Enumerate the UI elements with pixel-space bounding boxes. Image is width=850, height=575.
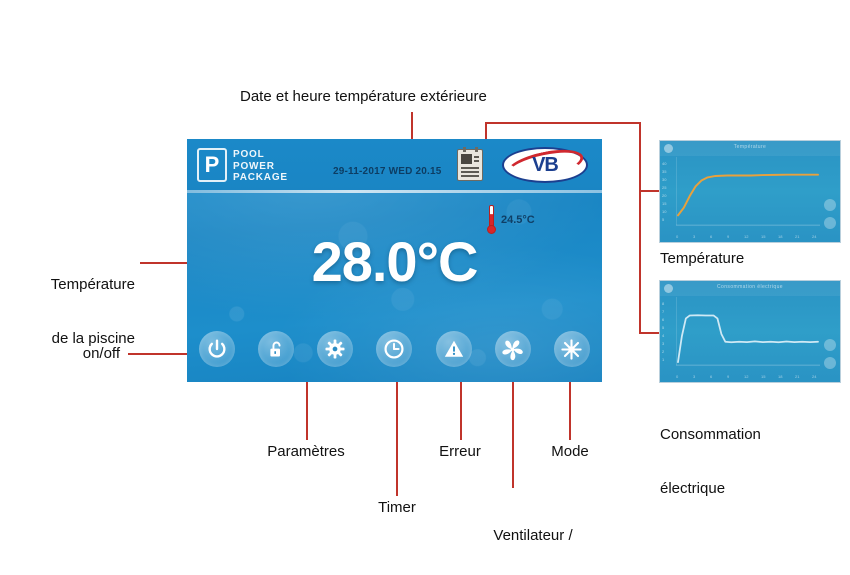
temp-chart-xtick-0: 0 — [676, 234, 678, 239]
temp-chart-plot — [676, 157, 820, 228]
leader-line-temp-chart — [639, 190, 659, 192]
power-chart-xtick-0: 0 — [676, 374, 678, 379]
schedule-icon-tab-right — [475, 147, 478, 152]
temp-chart-ytick-6: 10 — [662, 209, 666, 214]
temp-chart-btn-1[interactable] — [824, 199, 836, 211]
callout-onoff: on/off — [10, 345, 120, 363]
leader-line-sched-horiz — [485, 122, 641, 124]
callout-timer: Timer — [352, 499, 442, 517]
power-chart-ytick-4: 4 — [662, 333, 664, 338]
vb-logo: VB — [502, 147, 588, 183]
temp-chart-xtick-4: 12 — [744, 234, 748, 239]
brand-mark-letter: P — [197, 148, 227, 182]
temp-chart-ytick-5: 15 — [662, 201, 666, 206]
temp-chart-ytick-7: 5 — [662, 217, 664, 222]
leader-line-power-chart — [639, 332, 659, 334]
temp-chart-ytick-0: 40 — [662, 161, 666, 166]
power-icon[interactable] — [199, 331, 235, 367]
power-chart-ytick-5: 3 — [662, 341, 664, 346]
screen-header: P POOL POWER PACKAGE 29-11-2017 WED 20.1… — [187, 139, 602, 193]
leader-line-charts-vert — [639, 122, 641, 334]
temp-chart-xtick-8: 24 — [812, 234, 816, 239]
power-chart-menu-icon[interactable] — [664, 284, 673, 293]
schedule-icon-line-3 — [461, 167, 479, 169]
power-chart-xtick-8: 24 — [812, 374, 816, 379]
schedule-icon-line-2 — [474, 160, 479, 162]
label-power-chart: Consommation électrique — [660, 390, 761, 534]
temp-chart-menu-icon[interactable] — [664, 144, 673, 153]
power-chart-xtick-7: 21 — [795, 374, 799, 379]
power-chart-thumbnail[interactable]: Consommation électrique 8 7 6 5 4 3 2 1 … — [659, 280, 841, 383]
callout-ventilateur: Ventilateur / Mode silencieux — [458, 491, 608, 575]
callout-date-time-outdoor-temp: Date et heure température extérieure — [240, 88, 487, 106]
leader-line-parametres — [306, 378, 308, 440]
leader-line-erreur — [460, 378, 462, 440]
thermometer-stem — [489, 205, 494, 226]
callout-erreur: Erreur — [405, 443, 515, 461]
leader-line-mode — [569, 378, 571, 440]
pool-temperature-value: 28.0°C — [187, 229, 602, 294]
fan-icon[interactable] — [495, 331, 531, 367]
callout-pool-temperature-line1: Température — [10, 276, 135, 294]
outdoor-temperature-value: 24.5°C — [501, 214, 535, 226]
temp-chart-xtick-7: 21 — [795, 234, 799, 239]
power-chart-ytick-3: 5 — [662, 325, 664, 330]
power-chart-svg — [676, 297, 820, 368]
temp-chart-svg — [676, 157, 820, 228]
leader-line-ventilateur — [512, 378, 514, 488]
brand-word-package: PACKAGE — [233, 172, 288, 184]
lock-icon[interactable] — [258, 331, 294, 367]
brand-word-power: POWER — [233, 161, 288, 173]
power-chart-xtick-3: 9 — [727, 374, 729, 379]
figure-root: Date et heure température extérieure Tem… — [0, 0, 850, 575]
brand-wordmark: POOL POWER PACKAGE — [233, 148, 288, 184]
power-chart-ytick-7: 1 — [662, 357, 664, 362]
warning-icon[interactable] — [436, 331, 472, 367]
callout-parametres: Paramètres — [226, 443, 386, 461]
power-chart-ytick-0: 8 — [662, 301, 664, 306]
schedule-icon-block — [461, 154, 472, 164]
header-underline — [187, 190, 602, 193]
power-chart-plot — [676, 297, 820, 368]
temp-chart-ytick-1: 35 — [662, 169, 666, 174]
power-chart-xtick-2: 6 — [710, 374, 712, 379]
temp-chart-xtick-2: 6 — [710, 234, 712, 239]
power-chart-ytick-2: 6 — [662, 317, 664, 322]
power-chart-xtick-6: 18 — [778, 374, 782, 379]
control-icon-row — [199, 331, 590, 367]
temp-chart-ytick-2: 30 — [662, 177, 666, 182]
temp-chart-xtick-5: 15 — [761, 234, 765, 239]
power-chart-xtick-5: 15 — [761, 374, 765, 379]
temp-chart-btn-2[interactable] — [824, 217, 836, 229]
snowflake-icon[interactable] — [554, 331, 590, 367]
schedule-icon-line-1 — [474, 156, 479, 158]
power-chart-title: Consommation électrique — [717, 284, 783, 290]
power-chart-btn-2[interactable] — [824, 357, 836, 369]
leader-line-timer — [396, 378, 398, 496]
temp-chart-ytick-3: 25 — [662, 185, 666, 190]
schedule-icon[interactable] — [457, 149, 483, 181]
temp-chart-ytick-4: 20 — [662, 193, 666, 198]
temp-chart-xtick-6: 18 — [778, 234, 782, 239]
brand-word-pool: POOL — [233, 149, 288, 161]
gear-icon[interactable] — [317, 331, 353, 367]
callout-mode: Mode — [515, 443, 625, 461]
temp-chart-xtick-3: 9 — [727, 234, 729, 239]
label-power-chart-line1: Consommation — [660, 426, 761, 444]
power-chart-xtick-1: 3 — [693, 374, 695, 379]
schedule-icon-line-5 — [461, 175, 479, 177]
clock-icon[interactable] — [376, 331, 412, 367]
temp-chart-title: Température — [734, 144, 766, 150]
label-power-chart-line2: électrique — [660, 480, 761, 498]
power-chart-btn-1[interactable] — [824, 339, 836, 351]
brand-logo: P POOL POWER PACKAGE — [197, 148, 288, 184]
schedule-icon-tab-left — [463, 147, 466, 152]
power-chart-xtick-4: 12 — [744, 374, 748, 379]
label-temperature-chart: Température — [660, 250, 744, 268]
temp-chart-xtick-1: 3 — [693, 234, 695, 239]
controller-screen: P POOL POWER PACKAGE 29-11-2017 WED 20.1… — [187, 139, 602, 382]
power-chart-ytick-6: 2 — [662, 349, 664, 354]
datetime-display: 29-11-2017 WED 20.15 — [333, 166, 442, 177]
power-chart-ytick-1: 7 — [662, 309, 664, 314]
temperature-chart-thumbnail[interactable]: Température 40 35 30 25 20 15 10 5 0 3 6… — [659, 140, 841, 243]
callout-ventilateur-line1: Ventilateur / — [458, 527, 608, 545]
vb-logo-text: VB — [502, 147, 588, 183]
schedule-icon-line-4 — [461, 171, 479, 173]
